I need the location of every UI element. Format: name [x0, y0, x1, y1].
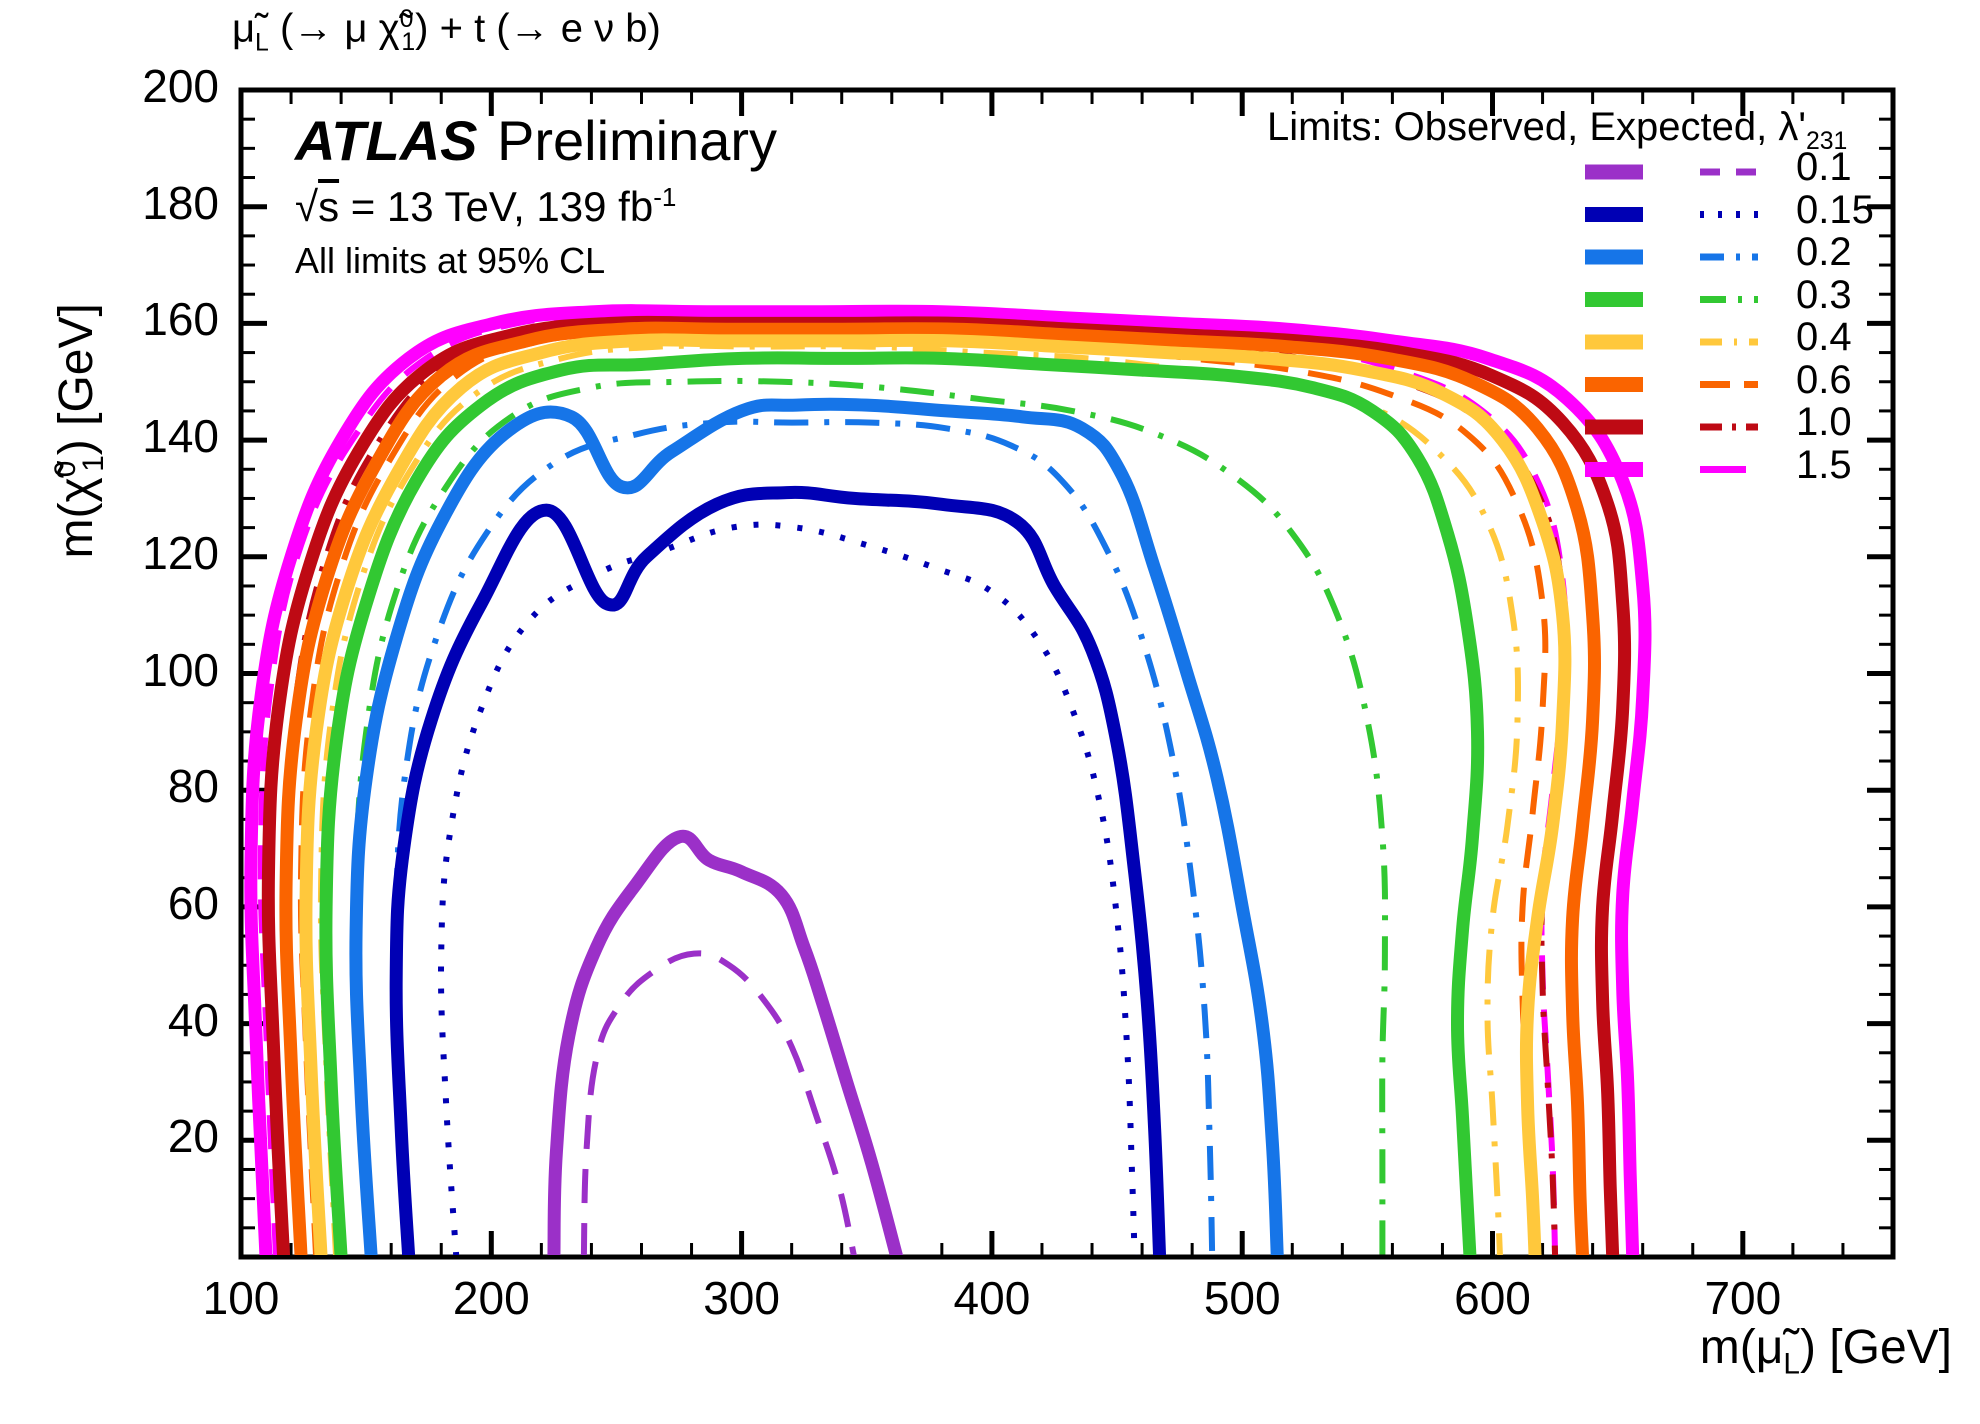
- contour-0p1-expected: [584, 953, 854, 1257]
- contour-0p1-observed: [554, 836, 897, 1257]
- y-tick-label: 120: [0, 526, 219, 580]
- x-tick-label: 300: [652, 1271, 832, 1325]
- contour-1p5-observed: [251, 311, 1645, 1257]
- y-tick-label: 100: [0, 643, 219, 697]
- x-tick-label: 600: [1403, 1271, 1583, 1325]
- confidence-level-label: All limits at 95% CL: [295, 240, 605, 282]
- curves-group: [251, 311, 1645, 1257]
- contour-0p4-observed: [306, 340, 1565, 1257]
- process-title: μ̃L (→ μ χ̃01) + t (→ e ν b): [232, 6, 661, 57]
- legend-label-1p0: 1.0: [1796, 400, 1852, 445]
- legend-label-0p6: 0.6: [1796, 358, 1852, 403]
- atlas-label: ATLAS: [295, 108, 478, 173]
- chart-root: μ̃L (→ μ χ̃01) + t (→ e ν b) ATLAS Preli…: [0, 0, 1980, 1424]
- contour-0p15-observed: [396, 492, 1159, 1257]
- contour-0p3-observed: [326, 358, 1478, 1257]
- contour-0p6-observed: [286, 328, 1595, 1257]
- x-tick-label: 200: [401, 1271, 581, 1325]
- x-tick-label: 700: [1653, 1271, 1833, 1325]
- y-tick-label: 140: [0, 409, 219, 463]
- legend-label-0p4: 0.4: [1796, 315, 1852, 360]
- contour-curves: [251, 311, 1645, 1257]
- y-tick-label: 160: [0, 292, 219, 346]
- x-tick-label: 100: [151, 1271, 331, 1325]
- y-tick-label: 180: [0, 176, 219, 230]
- y-tick-label: 60: [0, 876, 219, 930]
- legend-label-0p15: 0.15: [1796, 188, 1874, 233]
- legend-header: Limits: Observed, Expected, λ'231: [1267, 105, 1847, 156]
- contour-0p2-expected: [396, 422, 1212, 1257]
- contour-0p4-expected: [321, 346, 1518, 1257]
- x-tick-label: 400: [902, 1271, 1082, 1325]
- legend-label-0p1: 0.1: [1796, 145, 1852, 190]
- contour-1p5-expected: [261, 317, 1566, 1257]
- legend-swatches: [1585, 172, 1758, 470]
- contour-0p15-expected: [441, 525, 1135, 1257]
- y-tick-label: 40: [0, 993, 219, 1047]
- x-tick-label: 500: [1152, 1271, 1332, 1325]
- y-tick-label: 200: [0, 59, 219, 113]
- y-tick-label: 20: [0, 1109, 219, 1163]
- preliminary-label: Preliminary: [497, 108, 777, 173]
- contour-0p6-expected: [301, 335, 1545, 1257]
- luminosity-label: √s = 13 TeV, 139 fb-1: [295, 182, 676, 231]
- legend-label-1p5: 1.5: [1796, 443, 1852, 488]
- legend-label-0p2: 0.2: [1796, 230, 1852, 275]
- x-axis-title: m(μ̃L) [GeV]: [1700, 1320, 1952, 1382]
- contour-0p2-observed: [356, 404, 1277, 1257]
- legend-label-0p3: 0.3: [1796, 273, 1852, 318]
- y-tick-label: 80: [0, 759, 219, 813]
